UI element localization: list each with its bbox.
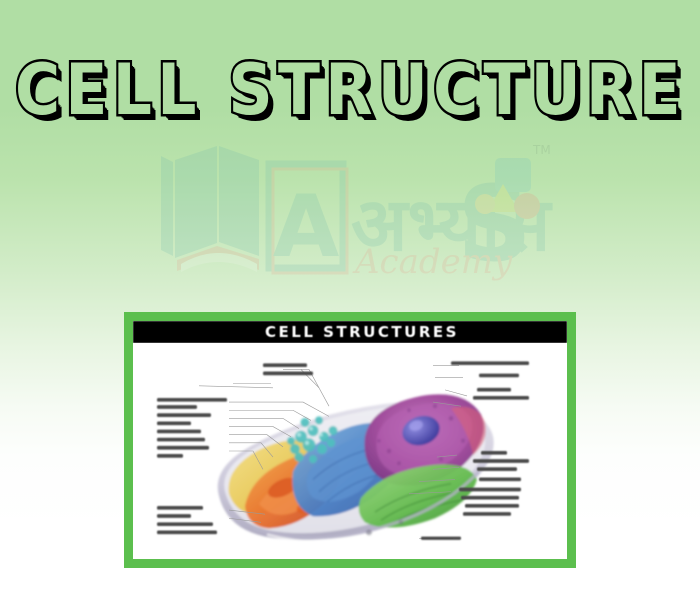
cell-structure-image-panel: CELL STRUCTURES xyxy=(124,312,576,568)
watermark-letter-s: S xyxy=(457,163,532,285)
svg-text:A: A xyxy=(273,177,340,277)
page-title: CELL STRUCTURE xyxy=(0,54,700,112)
cell-diagram-figure xyxy=(133,343,567,559)
page-title-text: CELL STRUCTURE xyxy=(15,54,686,125)
watermark-trademark: TM xyxy=(475,143,551,219)
watermark-letter-a: A xyxy=(269,164,347,277)
svg-text:अभ्यास: अभ्यास xyxy=(351,182,553,268)
watermark-tagline: Academy xyxy=(352,242,513,282)
slide-root: A अभ्यास S Academy TM xyxy=(0,0,700,600)
svg-text:Academy: Academy xyxy=(352,242,513,282)
svg-text:TM: TM xyxy=(532,143,551,157)
image-panel-inner: CELL STRUCTURES xyxy=(133,321,567,559)
image-banner-title: CELL STRUCTURES xyxy=(133,321,567,343)
abhyas-academy-watermark: A अभ्यास S Academy TM xyxy=(155,138,575,290)
open-book-icon xyxy=(161,146,259,272)
svg-text:S: S xyxy=(457,163,532,285)
watermark-devanagari: अभ्यास xyxy=(351,182,553,268)
